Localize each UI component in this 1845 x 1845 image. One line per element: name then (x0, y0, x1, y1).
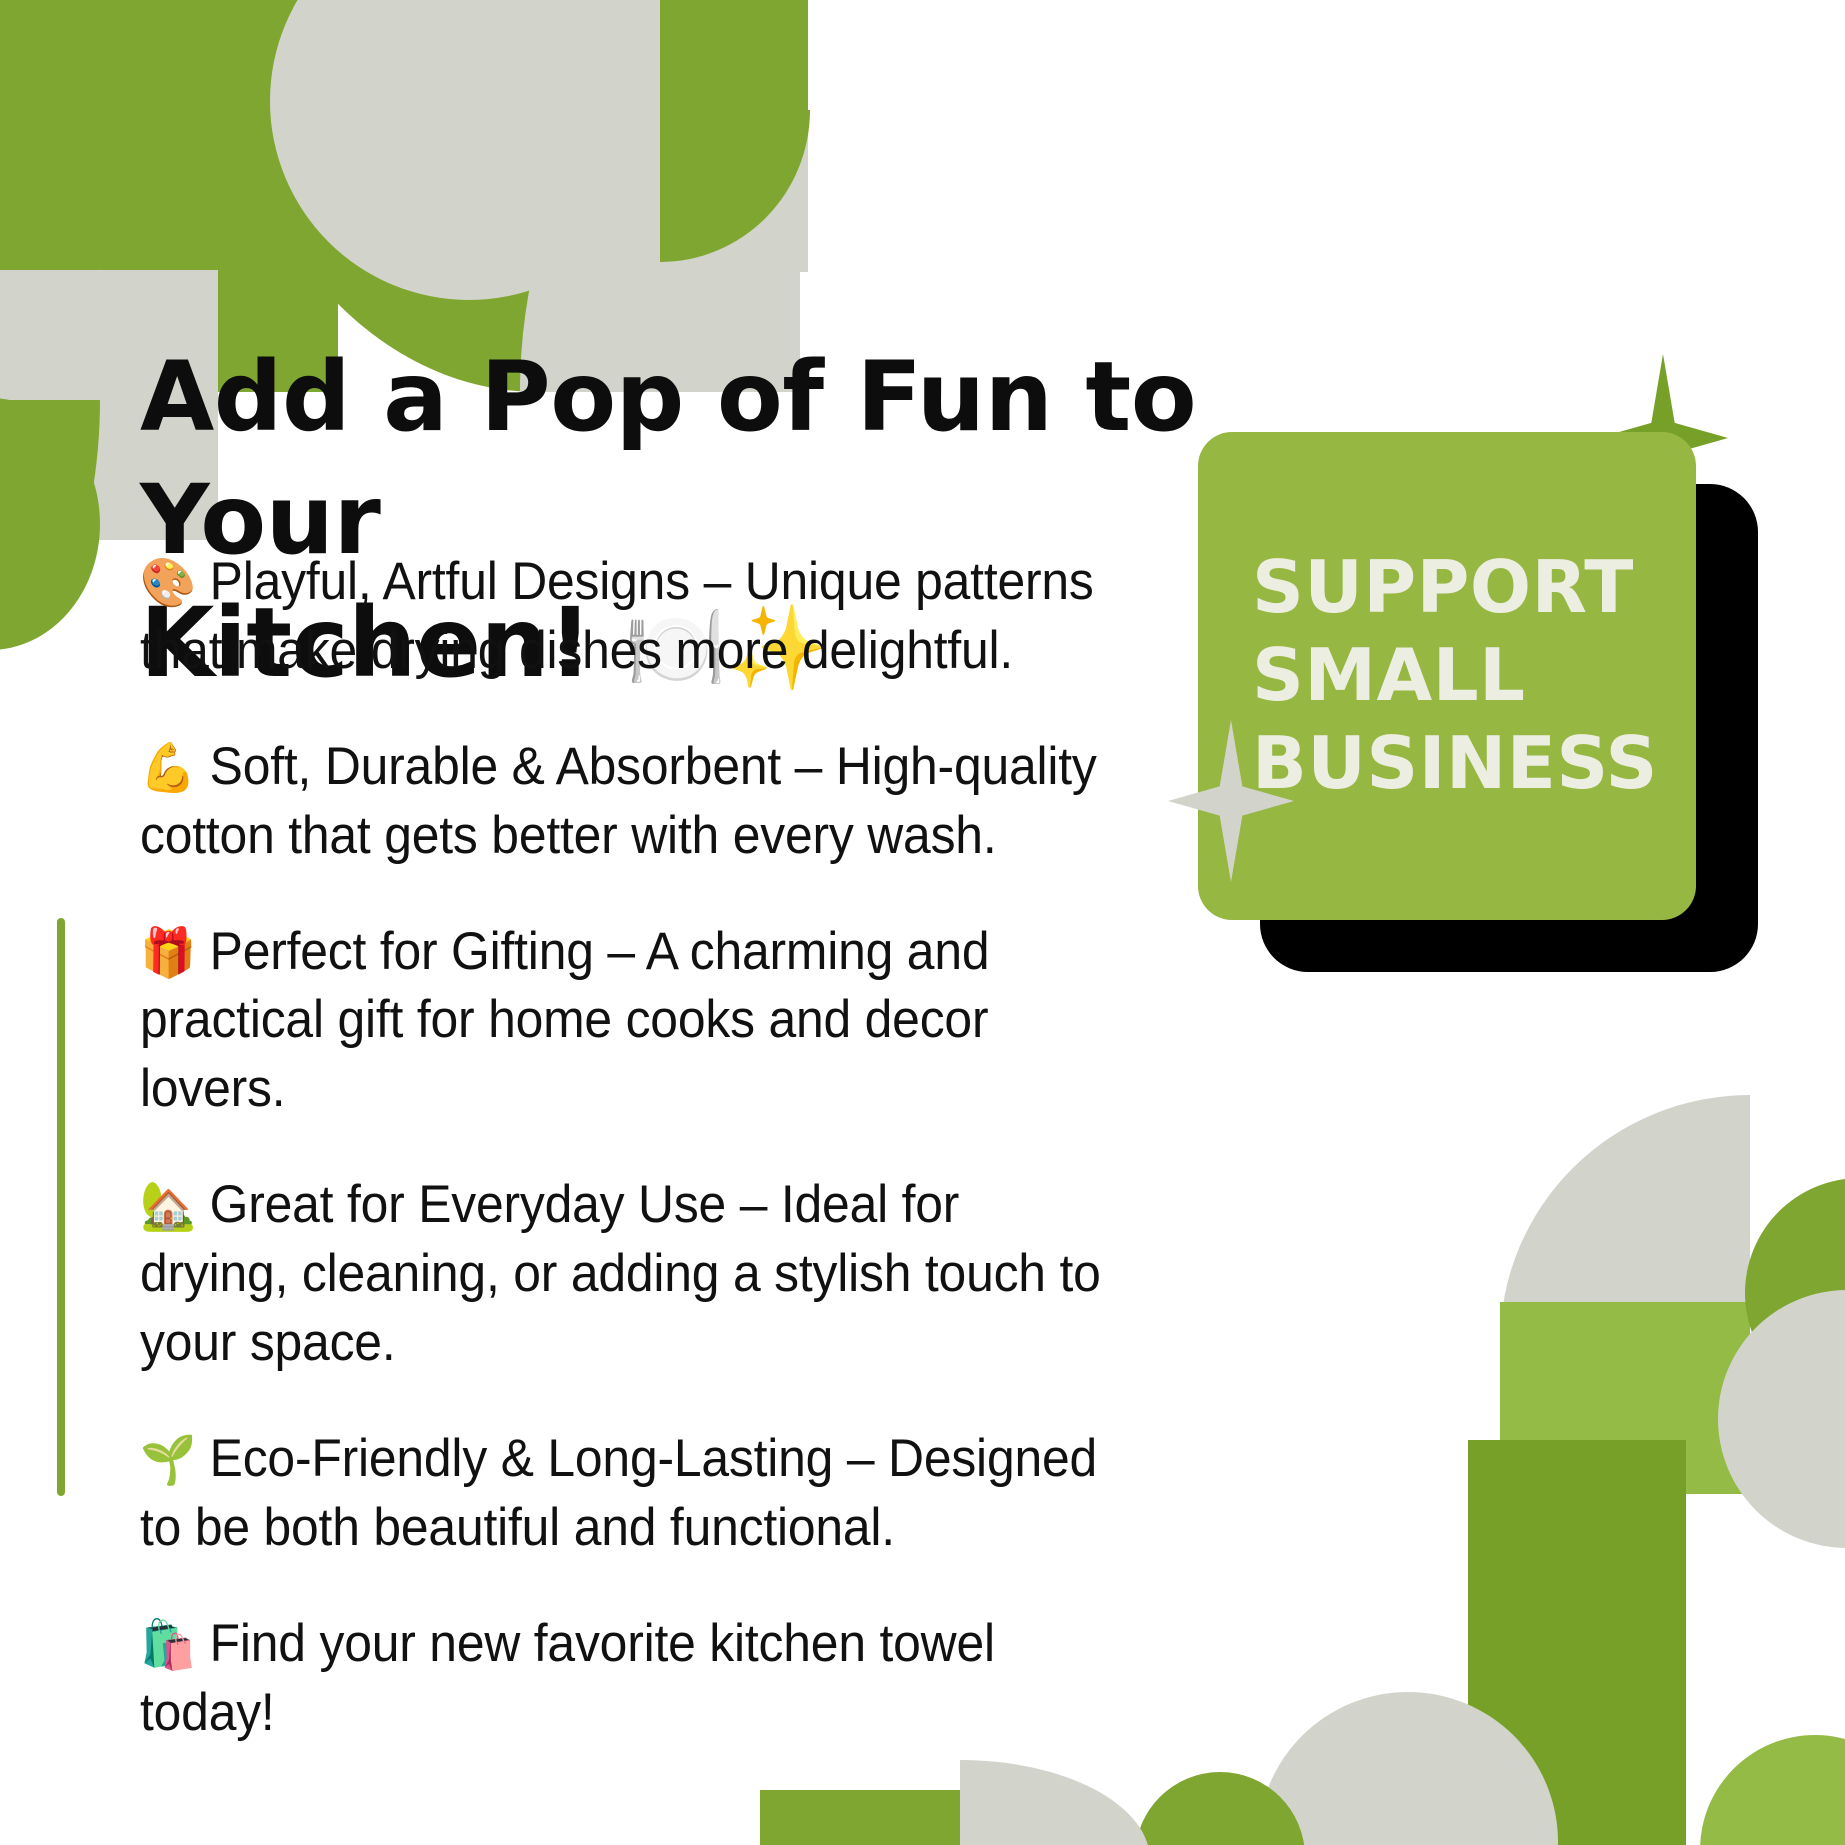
promo-poster: Add a Pop of Fun to Your Kitchen! 🍽️✨ 🎨 … (0, 0, 1845, 1845)
deco-green-circle-bottom (1135, 1772, 1305, 1845)
left-accent-rule (57, 918, 65, 1496)
list-item: 🎨 Playful, Artful Designs – Unique patte… (140, 548, 1108, 686)
shopping-bags-icon: 🛍️ (140, 1619, 196, 1672)
list-item-text: Eco-Friendly & Long-Lasting – Designed t… (140, 1429, 1097, 1557)
flexed-biceps-icon: 💪 (140, 742, 196, 795)
list-item: 🎁 Perfect for Gifting – A charming and p… (140, 918, 1108, 1125)
list-item: 🌱 Eco-Friendly & Long-Lasting – Designed… (140, 1425, 1108, 1563)
list-item-text: Playful, Artful Designs – Unique pattern… (140, 552, 1094, 680)
headline-line-1: Add a Pop of Fun to Your (140, 341, 1196, 576)
deco-green-block-bottomright (1500, 1302, 1750, 1494)
deco-green-quarter-bottomright (1500, 1302, 1750, 1552)
badge-line-2: SMALL (1252, 632, 1658, 720)
house-with-garden-icon: 🏡 (140, 1180, 196, 1233)
deco-green-quarter-left (0, 400, 100, 650)
support-small-business-badge: SUPPORT SMALL BUSINESS (1198, 432, 1758, 972)
deco-green-quarter-topright (660, 110, 810, 262)
badge-line-1: SUPPORT (1252, 544, 1658, 632)
badge-card: SUPPORT SMALL BUSINESS (1198, 432, 1696, 920)
list-item-text: Soft, Durable & Absorbent – High-quality… (140, 737, 1097, 865)
badge-text-block: SUPPORT SMALL BUSINESS (1198, 544, 1658, 807)
deco-gray-quarter-bottomedge (960, 1760, 1150, 1845)
deco-gray-quarter-top (512, 0, 802, 272)
list-item-text: Great for Everyday Use – Ideal for dryin… (140, 1175, 1101, 1372)
deco-gray-circle-top (270, 0, 668, 300)
feature-list: 🎨 Playful, Artful Designs – Unique patte… (140, 548, 1170, 1747)
wrapped-gift-icon: 🎁 (140, 927, 196, 980)
deco-green-block-topright (660, 0, 808, 122)
deco-gray-circle-bottom (1258, 1692, 1558, 1845)
deco-gray-big-quarter (520, 0, 800, 392)
list-item: 💪 Soft, Durable & Absorbent – High-quali… (140, 733, 1108, 871)
deco-green-block-top (218, 0, 338, 392)
deco-green-quarter-topleft (0, 0, 268, 300)
deco-green-circle-right (1745, 1178, 1845, 1408)
deco-green-block-bottomedge (760, 1790, 970, 1845)
deco-gray-band-top (512, 0, 802, 262)
deco-darkgreen-column-cap (1468, 1440, 1618, 1590)
list-item: 🏡 Great for Everyday Use – Ideal for dry… (140, 1171, 1108, 1378)
artist-palette-icon: 🎨 (140, 557, 196, 610)
deco-gray-quarter-bottomright (1500, 1095, 1750, 1343)
badge-line-3: BUSINESS (1252, 720, 1658, 808)
list-item-text: Perfect for Gifting – A charming and pra… (140, 922, 989, 1119)
deco-green-semicircle-left (0, 398, 100, 650)
list-item: 🛍️ Find your new favorite kitchen towel … (140, 1610, 1108, 1748)
deco-green-quarter-top-inner (218, 0, 538, 392)
deco-darkgreen-column (1468, 1440, 1686, 1845)
deco-gray-shape-topcenter (510, 0, 808, 272)
seedling-icon: 🌱 (140, 1434, 196, 1487)
deco-gray-circle-right (1718, 1290, 1845, 1548)
list-item-text: Find your new favorite kitchen towel tod… (140, 1614, 995, 1742)
deco-green-circle-bottomright (1700, 1735, 1845, 1845)
